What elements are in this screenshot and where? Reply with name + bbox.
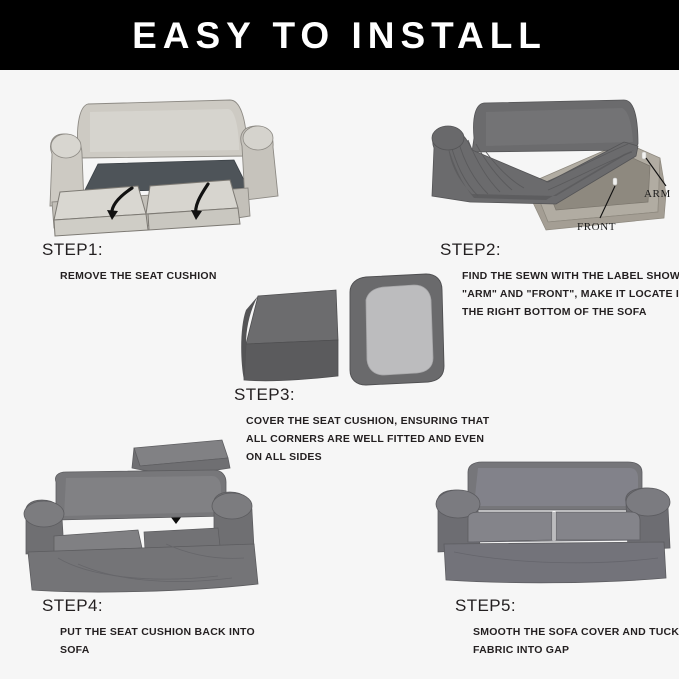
sofa-right-arm-roll	[243, 126, 273, 150]
arm-label-tag	[642, 152, 646, 159]
arm-callout-label: ARM	[644, 188, 671, 200]
step2-line-3: THE RIGHT BOTTOM OF THE SOFA	[462, 303, 679, 321]
cover-backrest-highlight	[486, 108, 633, 146]
step4-description: PUT THE SEAT CUSHION BACK INTO SOFA	[60, 623, 255, 659]
cushion-cover-inner-panel	[366, 285, 433, 375]
step5-title: STEP5:	[455, 596, 679, 616]
step5-illustration	[424, 452, 679, 594]
sofa5-cushion-right	[556, 512, 640, 540]
step4-block: STEP4: PUT THE SEAT CUSHION BACK INTO SO…	[42, 596, 255, 659]
step3-title: STEP3:	[234, 385, 489, 405]
sofa-left-arm-roll	[51, 134, 81, 158]
step4-title: STEP4:	[42, 596, 255, 616]
step5-description: SMOOTH THE SOFA COVER AND TUCK THE FABRI…	[473, 623, 679, 659]
sofa4-left-arm-roll	[24, 501, 64, 527]
infographic-page: EASY TO INSTALL	[0, 0, 679, 679]
sofa5-cushion-left	[468, 512, 552, 542]
sofa4-skirt	[28, 544, 258, 592]
sofa4-right-arm-roll	[212, 493, 252, 519]
sofa5-backrest-highlight	[474, 468, 638, 506]
step4-line-1: PUT THE SEAT CUSHION BACK INTO	[60, 623, 255, 641]
step5-line-1: SMOOTH THE SOFA COVER AND TUCK THE	[473, 623, 679, 641]
front-label-tag	[613, 178, 617, 185]
sofa-backrest-highlight	[90, 109, 239, 152]
header-banner: EASY TO INSTALL	[0, 0, 679, 70]
step4-illustration	[18, 424, 290, 596]
step3-illustration	[232, 248, 448, 388]
sofa4-backrest-highlight	[64, 476, 221, 516]
cushion-top-face	[246, 290, 338, 344]
step2-line-1: FIND THE SEWN WITH THE LABEL SHOWS	[462, 267, 679, 285]
step1-illustration	[42, 84, 292, 239]
step2-illustration	[428, 86, 679, 236]
cushion-front-face	[244, 340, 338, 381]
step2-line-2: "ARM" AND "FRONT", MAKE IT LOCATE IN	[462, 285, 679, 303]
step2-block: STEP2: FIND THE SEWN WITH THE LABEL SHOW…	[440, 240, 679, 321]
step4-line-2: SOFA	[60, 641, 255, 659]
step2-description: FIND THE SEWN WITH THE LABEL SHOWS "ARM"…	[462, 267, 679, 321]
cover-left-arm-roll	[432, 126, 464, 150]
step5-block: STEP5: SMOOTH THE SOFA COVER AND TUCK TH…	[455, 596, 679, 659]
step2-title: STEP2:	[440, 240, 679, 260]
step1-title: STEP1:	[42, 240, 217, 260]
step1-description: REMOVE THE SEAT CUSHION	[60, 267, 217, 285]
step1-line-1: REMOVE THE SEAT CUSHION	[60, 267, 217, 285]
step5-line-2: FABRIC INTO GAP	[473, 641, 679, 659]
step1-block: STEP1: REMOVE THE SEAT CUSHION	[42, 240, 217, 285]
front-callout-label: FRONT	[577, 221, 616, 233]
page-title: EASY TO INSTALL	[132, 17, 547, 54]
